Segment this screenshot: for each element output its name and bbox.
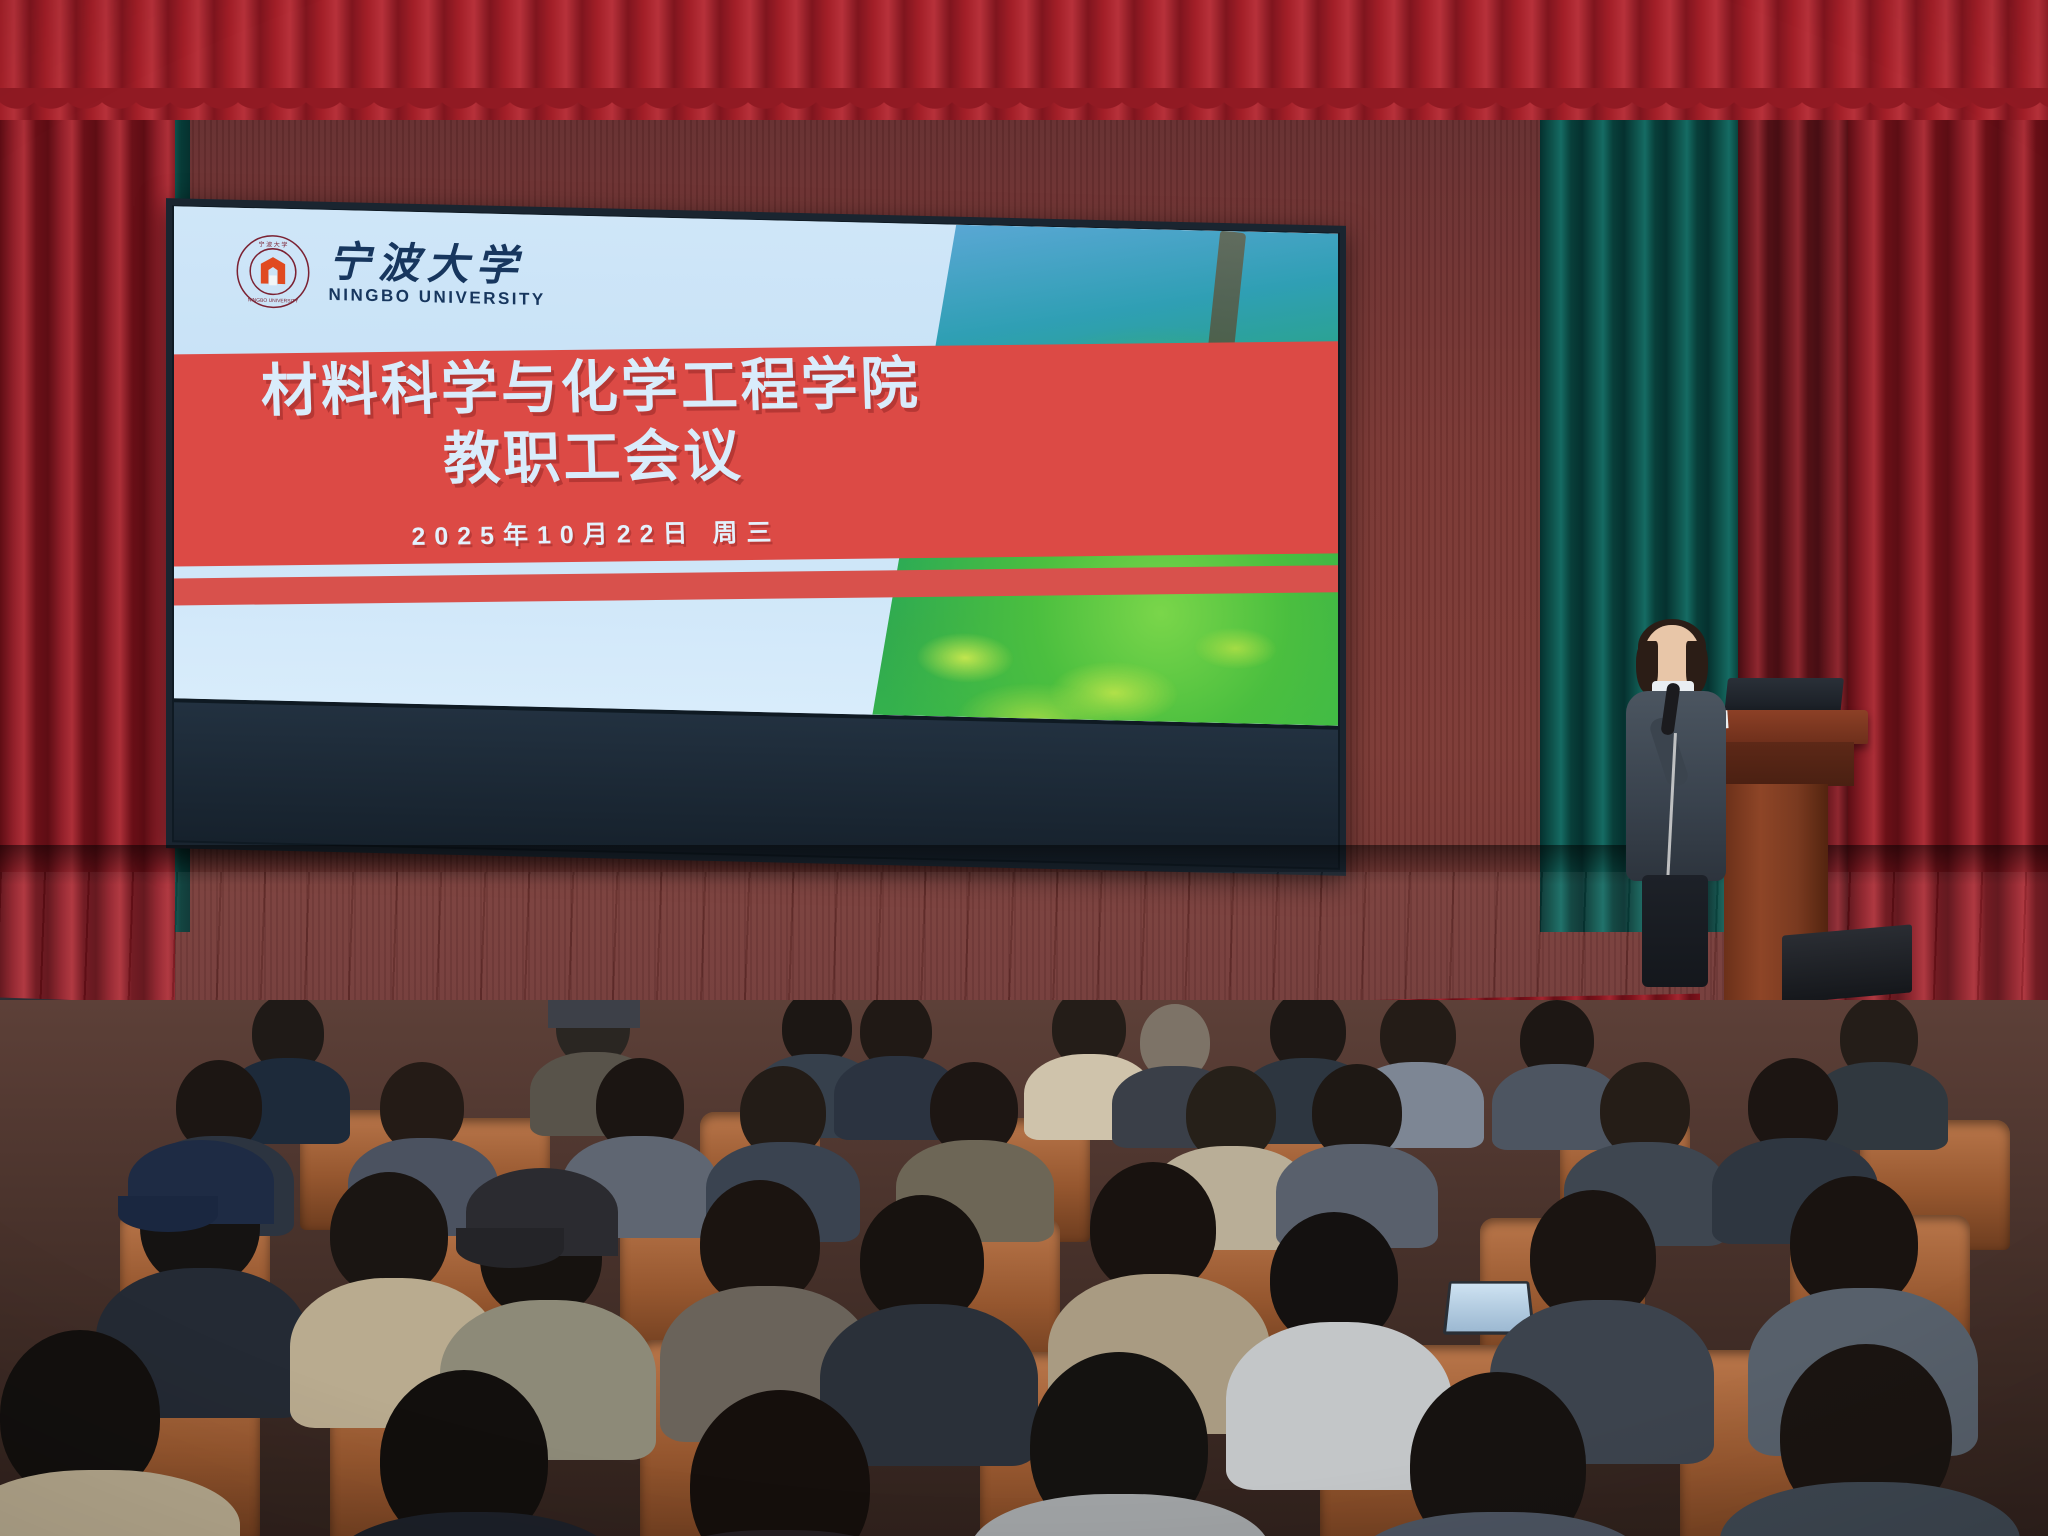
cap-brim: [456, 1228, 564, 1268]
presenter-legs: [1642, 875, 1708, 987]
slide-header: 宁 波 大 学 NINGBO UNIVERSITY 宁波大学 NINGBO UN…: [235, 232, 546, 315]
stage-floor-monitor: [1782, 924, 1912, 1003]
ningbo-university-seal-icon: 宁 波 大 学 NINGBO UNIVERSITY: [235, 232, 311, 310]
presentation-slide: 宁 波 大 学 NINGBO UNIVERSITY 宁波大学 NINGBO UN…: [174, 206, 1338, 725]
seated-audience: [0, 1000, 2048, 1536]
slide-title-line-2: 教职工会议: [196, 419, 989, 498]
presenter-at-podium: [1612, 625, 1742, 985]
top-valance-curtain: [0, 0, 2048, 120]
flat-cap-icon: [548, 1000, 640, 1028]
university-name-cn: 宁波大学: [329, 242, 546, 289]
slide-title-line-1: 材料科学与化学工程学院: [194, 349, 987, 428]
university-name-block: 宁波大学 NINGBO UNIVERSITY: [329, 242, 546, 308]
projection-screen: 宁 波 大 学 NINGBO UNIVERSITY 宁波大学 NINGBO UN…: [166, 198, 1346, 876]
svg-text:宁 波 大 学: 宁 波 大 学: [258, 240, 287, 249]
screen-lower-panel: [174, 702, 1338, 867]
slide-title-block: 材料科学与化学工程学院 教职工会议 2025年10月22日 周三: [174, 349, 992, 555]
university-name-en: NINGBO UNIVERSITY: [329, 286, 546, 308]
auditorium-scene: 宁 波 大 学 NINGBO UNIVERSITY 宁波大学 NINGBO UN…: [0, 0, 2048, 1536]
svg-text:NINGBO UNIVERSITY: NINGBO UNIVERSITY: [247, 297, 298, 304]
cap-brim: [118, 1196, 218, 1232]
